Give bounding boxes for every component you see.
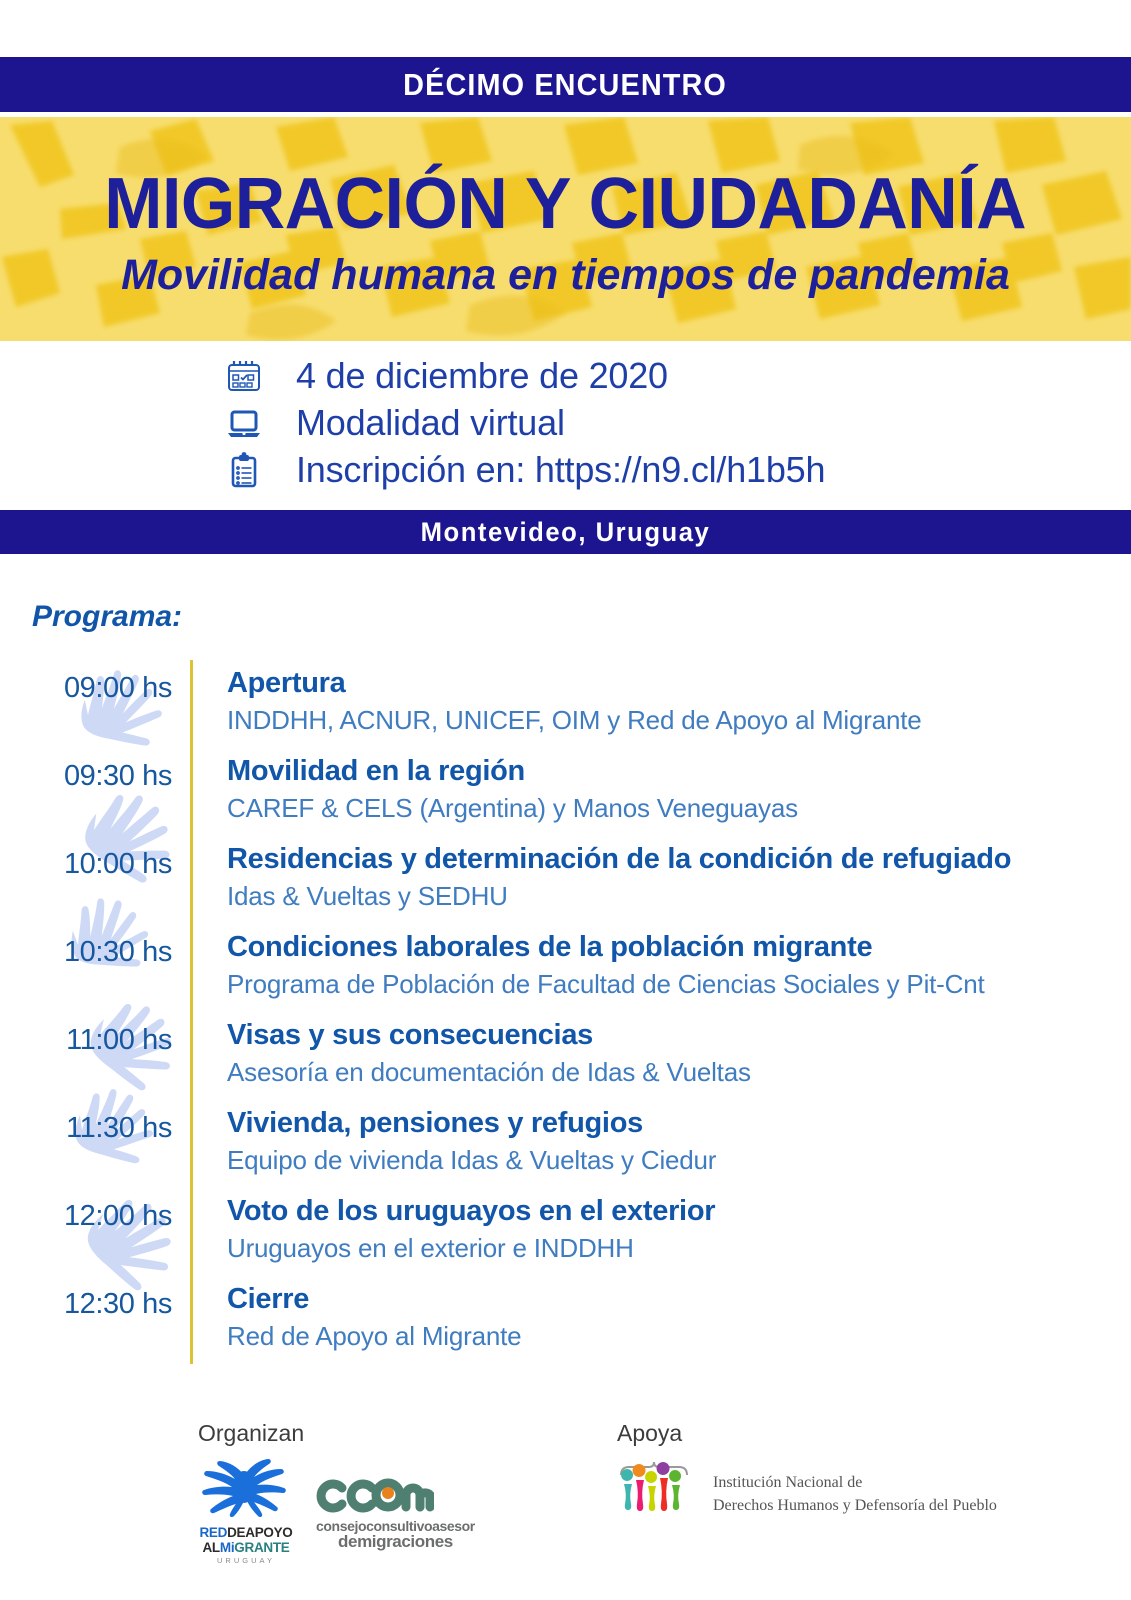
ram-line2-a: AL — [202, 1540, 219, 1555]
ram-line2-b: Mi — [220, 1540, 234, 1555]
supporter-block: Apoya — [617, 1420, 997, 1529]
schedule-desc: Asesoría en documentación de Idas & Vuel… — [227, 1056, 751, 1090]
schedule-body: Residencias y determinación de la condic… — [193, 836, 1011, 914]
eyebrow-text: DÉCIMO ENCUENTRO — [404, 67, 728, 103]
inddhh-figures-icon — [617, 1459, 691, 1529]
event-modality-text: Modalidad virtual — [296, 402, 565, 444]
schedule-title: Condiciones laborales de la población mi… — [227, 929, 985, 965]
schedule-title: Residencias y determinación de la condic… — [227, 841, 1011, 877]
detail-row-registration[interactable]: Inscripción en: https://n9.cl/h1b5h — [222, 446, 982, 493]
footer: Organizan REDDEAPOYO ALMiGRANTE URUG — [0, 1420, 1131, 1600]
schedule-body: Movilidad en la región CAREF & CELS (Arg… — [193, 748, 798, 826]
inddhh-name: Institución Nacional de Derechos Humanos… — [713, 1471, 997, 1517]
hero-banner: MIGRACIÓN Y CIUDADANÍA Movilidad humana … — [0, 117, 1131, 341]
schedule-body: Visas y sus consecuencias Asesoría en do… — [193, 1012, 751, 1090]
inddhh-line2: Derechos Humanos y Defensoría del Pueblo — [713, 1494, 997, 1517]
schedule-desc: Uruguayos en el exterior e INDDHH — [227, 1232, 715, 1266]
schedule-time: 10:30 hs — [30, 924, 190, 969]
schedule-desc: Red de Apoyo al Migrante — [227, 1320, 521, 1354]
supporter-label: Apoya — [617, 1420, 997, 1447]
schedule-body: Voto de los uruguayos en el exterior Uru… — [193, 1188, 715, 1266]
eyebrow-bar: DÉCIMO ENCUENTRO — [0, 57, 1131, 112]
schedule-time: 09:30 hs — [30, 748, 190, 793]
schedule-row: 10:00 hs Residencias y determinación de … — [30, 836, 1100, 924]
schedule-time: 12:00 hs — [30, 1188, 190, 1233]
event-details: 4 de diciembre de 2020 Modalidad virtual — [222, 352, 982, 493]
red-de-apoyo-al-migrante-logo: REDDEAPOYO ALMiGRANTE URUGUAY — [198, 1459, 294, 1565]
clipboard-icon — [222, 448, 266, 492]
schedule-time: 12:30 hs — [30, 1276, 190, 1321]
detail-row-date: 4 de diciembre de 2020 — [222, 352, 982, 399]
schedule-time: 11:00 hs — [30, 1012, 190, 1057]
detail-row-modality: Modalidad virtual — [222, 399, 982, 446]
ram-line2-c: GRANTE — [234, 1540, 289, 1555]
laptop-icon — [222, 401, 266, 445]
schedule-desc: CAREF & CELS (Argentina) y Manos Venegua… — [227, 792, 798, 826]
schedule-title: Movilidad en la región — [227, 753, 798, 789]
schedule-desc: Programa de Población de Facultad de Cie… — [227, 968, 985, 1002]
schedule-time: 10:00 hs — [30, 836, 190, 881]
ccam-logo: consejoconsultivoasesor demigraciones — [316, 1474, 475, 1550]
ram-country: URUGUAY — [198, 1556, 294, 1565]
schedule-body: Condiciones laborales de la población mi… — [193, 924, 985, 1002]
program-schedule: 09:00 hs Apertura INDDHH, ACNUR, UNICEF,… — [30, 660, 1100, 1364]
schedule-desc: INDDHH, ACNUR, UNICEF, OIM y Red de Apoy… — [227, 704, 922, 738]
schedule-row: 10:30 hs Condiciones laborales de la pob… — [30, 924, 1100, 1012]
program-heading: Programa: — [32, 600, 182, 634]
schedule-title: Visas y sus consecuencias — [227, 1017, 751, 1053]
ccam-wordmark-icon — [316, 1474, 434, 1516]
schedule-row: 09:00 hs Apertura INDDHH, ACNUR, UNICEF,… — [30, 660, 1100, 748]
inddhh-line1: Institución Nacional de — [713, 1471, 997, 1494]
location-text: Montevideo, Uruguay — [421, 517, 711, 548]
schedule-row: 12:00 hs Voto de los uruguayos en el ext… — [30, 1188, 1100, 1276]
ram-line1-a: RED — [199, 1525, 227, 1540]
ccam-tagline-line2: demigraciones — [316, 1533, 475, 1550]
schedule-title: Voto de los uruguayos en el exterior — [227, 1193, 715, 1229]
schedule-title: Vivienda, pensiones y refugios — [227, 1105, 716, 1141]
schedule-body: Vivienda, pensiones y refugios Equipo de… — [193, 1100, 716, 1178]
ccam-tagline: consejoconsultivoasesor demigraciones — [316, 1519, 475, 1550]
schedule-title: Cierre — [227, 1281, 521, 1317]
schedule-time: 09:00 hs — [30, 660, 190, 705]
page-title: MIGRACIÓN Y CIUDADANÍA — [105, 168, 1027, 240]
schedule-row: 12:30 hs Cierre Red de Apoyo al Migrante — [30, 1276, 1100, 1364]
schedule-desc: Equipo de vivienda Idas & Vueltas y Cied… — [227, 1144, 716, 1178]
schedule-title: Apertura — [227, 665, 922, 701]
page-subtitle: Movilidad humana en tiempos de pandemia — [121, 254, 1010, 297]
organizers-block: Organizan REDDEAPOYO ALMiGRANTE URUG — [198, 1420, 475, 1565]
supporter-logos: Institución Nacional de Derechos Humanos… — [617, 1459, 997, 1529]
location-bar: Montevideo, Uruguay — [0, 510, 1131, 554]
schedule-row: 11:30 hs Vivienda, pensiones y refugios … — [30, 1100, 1100, 1188]
schedule-row: 11:00 hs Visas y sus consecuencias Aseso… — [30, 1012, 1100, 1100]
schedule-body: Apertura INDDHH, ACNUR, UNICEF, OIM y Re… — [193, 660, 922, 738]
organizers-label: Organizan — [198, 1420, 475, 1447]
schedule-rows: 09:00 hs Apertura INDDHH, ACNUR, UNICEF,… — [30, 660, 1100, 1364]
schedule-body: Cierre Red de Apoyo al Migrante — [193, 1276, 521, 1354]
ram-line1-b: DEAPOYO — [227, 1525, 292, 1540]
calendar-icon — [222, 354, 266, 398]
event-registration-text[interactable]: Inscripción en: https://n9.cl/h1b5h — [296, 449, 825, 491]
schedule-row: 09:30 hs Movilidad en la región CAREF & … — [30, 748, 1100, 836]
hand-bird-icon — [198, 1459, 294, 1519]
ram-wordmark: REDDEAPOYO ALMiGRANTE — [198, 1526, 294, 1555]
schedule-time: 11:30 hs — [30, 1100, 190, 1145]
ccam-tagline-line1: consejoconsultivoasesor — [316, 1519, 475, 1533]
event-date-text: 4 de diciembre de 2020 — [296, 355, 668, 397]
organizer-logos: REDDEAPOYO ALMiGRANTE URUGUAY — [198, 1459, 475, 1565]
schedule-desc: Idas & Vueltas y SEDHU — [227, 880, 1011, 914]
